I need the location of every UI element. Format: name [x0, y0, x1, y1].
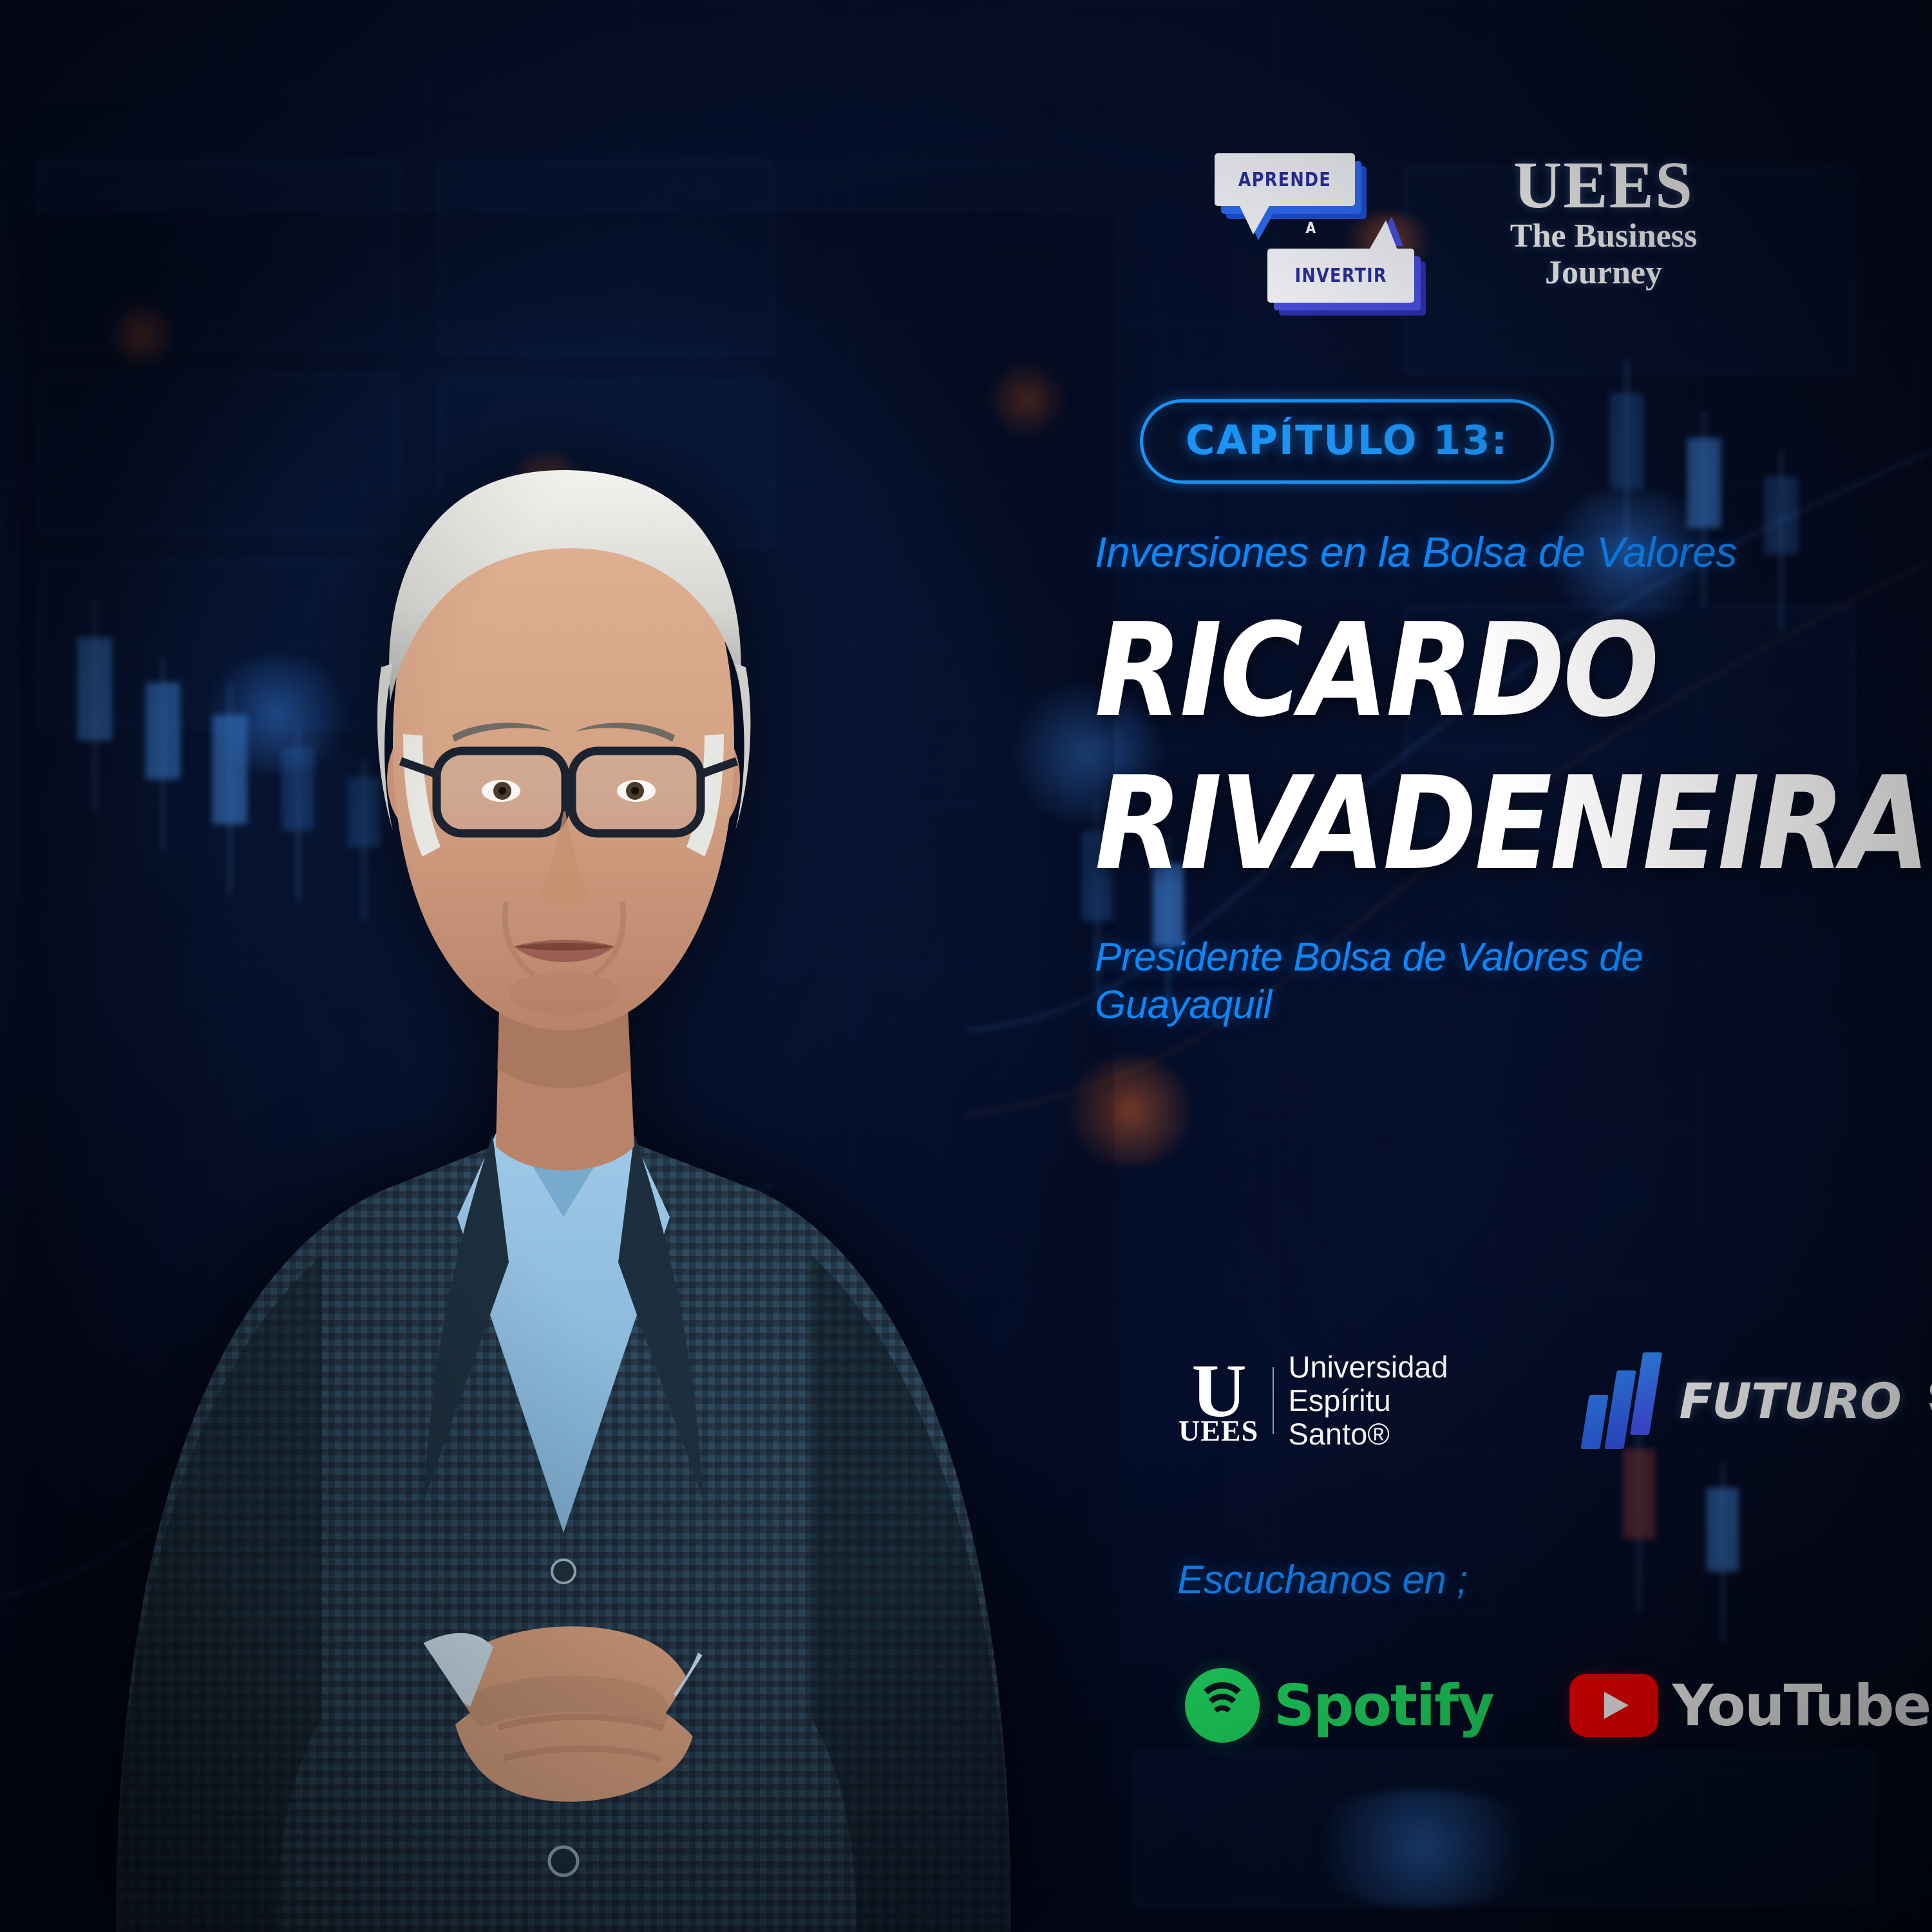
- uees-tagline-line2: Journey: [1468, 256, 1739, 290]
- uees-monogram-word: UEES: [1179, 1418, 1258, 1444]
- episode-content: CAPÍTULO 13: Inversiones en la Bolsa de …: [1095, 399, 1919, 1029]
- uees-name-line1: Universidad: [1288, 1350, 1448, 1384]
- futuro-wordmark: FUTURO: [1679, 1372, 1900, 1430]
- logo-text-aprende: APRENDE: [1238, 169, 1331, 191]
- guest-portrait: [19, 213, 1114, 1932]
- episode-title: Inversiones en la Bolsa de Valores: [1095, 527, 1823, 577]
- youtube-label: YouTube: [1672, 1672, 1930, 1739]
- listen-on-label: Escuchanos en ;: [1177, 1557, 1468, 1603]
- futuro-tagline-line1: CASA DE: [1929, 1381, 1932, 1401]
- background-candlestick: [1707, 1462, 1739, 1642]
- futuro-tagline-line2: VALORES: [1929, 1401, 1932, 1421]
- uees-business-journey-logo: UEES The Business Journey: [1468, 155, 1739, 290]
- uees-name-line2: Espíritu Santo®: [1288, 1384, 1448, 1450]
- background-glow: [1288, 1790, 1558, 1906]
- guest-first-name: RICARDO: [1095, 612, 1820, 730]
- speech-bubble-invertir: INVERTIR: [1267, 249, 1414, 303]
- speech-bubble-aprende: APRENDE: [1215, 153, 1355, 206]
- guest-role: Presidente Bolsa de Valores de Guayaquil: [1095, 934, 1816, 1030]
- youtube-icon[interactable]: [1569, 1674, 1658, 1737]
- uees-acronym: UEES: [1468, 155, 1739, 216]
- podcast-episode-poster: APRENDE A INVERTIR UEES The Business Jou…: [0, 0, 1932, 1932]
- guest-last-name: RIVADENEIRA: [1095, 765, 1820, 884]
- chapter-badge-label: CAPÍTULO 13:: [1186, 417, 1508, 464]
- uees-monogram: U UEES: [1179, 1358, 1258, 1444]
- futuro-bars-icon: [1584, 1352, 1660, 1449]
- uees-full-name: Universidad Espíritu Santo®: [1288, 1350, 1448, 1450]
- logo-text-invertir: INVERTIR: [1294, 265, 1387, 287]
- spotify-icon[interactable]: [1185, 1668, 1260, 1743]
- spotify-label: Spotify: [1274, 1672, 1493, 1739]
- sponsor-row: U UEES Universidad Espíritu Santo® FUTUR…: [1179, 1343, 1823, 1459]
- uees-tagline-line1: The Business: [1468, 219, 1739, 253]
- futuro-tagline: CASA DE VALORES: [1929, 1381, 1932, 1420]
- logo-text-connector: A: [1305, 219, 1316, 237]
- aprende-a-invertir-logo: APRENDE A INVERTIR: [1211, 140, 1443, 334]
- sponsor-futuro: FUTURO CASA DE VALORES: [1584, 1352, 1932, 1449]
- platform-spotify[interactable]: Spotify: [1185, 1668, 1493, 1743]
- chapter-badge: CAPÍTULO 13:: [1140, 399, 1554, 484]
- platform-youtube[interactable]: YouTube: [1569, 1672, 1930, 1739]
- platform-list: Spotify YouTube: [1185, 1668, 1930, 1743]
- sponsor-uees: U UEES Universidad Espíritu Santo®: [1179, 1350, 1448, 1450]
- uees-logo-divider: [1273, 1367, 1274, 1434]
